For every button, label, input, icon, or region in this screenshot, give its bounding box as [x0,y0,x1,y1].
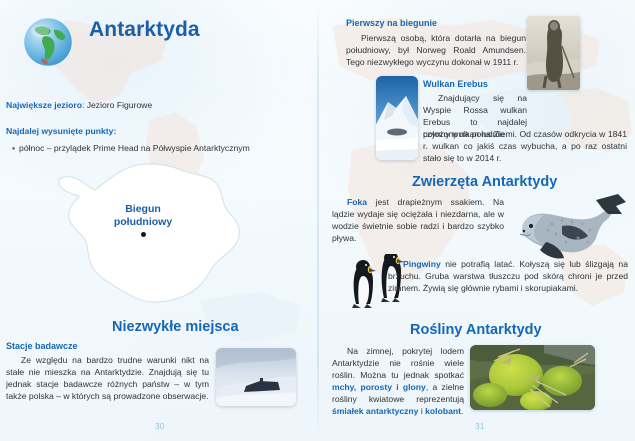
seal-illustration [504,190,628,268]
extreme-points-label: Najdalej wysunięte punkty: [6,126,116,136]
erebus-paragraph-wide: czynny wulkan na Ziemi. Od czasów odkryc… [423,128,627,164]
left-page-number: 30 [155,421,164,431]
research-stations-subheading: Stacje badawcze [6,341,78,351]
plants-text-4: . [461,406,463,416]
plants-heading: Rośliny Antarktydy [410,322,542,338]
amundsen-explorer-photo [527,16,580,90]
page-title: Antarktyda [89,18,200,42]
book-spread: Antarktyda Największe jezioro: Jezioro F… [0,0,635,441]
plants-text-1: Na zimnej, pokrytej lodem Antarktydzie n… [332,346,464,380]
plants-paragraph: Na zimnej, pokrytej lodem Antarktydzie n… [332,345,464,418]
first-at-pole-heading: Pierwszy na biegunie [346,18,437,28]
bullet-dot-icon: ▪ [12,143,15,153]
animals-heading: Zwierzęta Antarktydy [412,174,557,190]
globe-americas-icon [23,17,73,67]
extreme-point-text: północ – przylądek Prime Head na Półwysp… [19,143,250,153]
south-pole-marker [141,232,146,237]
seal-paragraph: Foka jest drapieżnym ssakiem. Na lądzie … [332,196,504,244]
penguin-keyword: Pingwiny [403,259,441,269]
research-station-photo [216,348,296,406]
plants-keyword-3: kolobant [425,406,461,416]
seal-keyword: Foka [347,197,367,207]
unusual-places-heading: Niezwykłe miejsca [112,319,239,335]
south-pole-label-line2: południowy [114,216,172,228]
left-page: Antarktyda Największe jezioro: Jezioro F… [0,0,317,441]
largest-lake-key: Największe jezioro [6,100,82,110]
south-pole-label: Biegun południowy [88,203,198,228]
largest-lake-label: Największe jezioro: Jezioro Figurowe [6,100,311,110]
plants-keyword-1: mchy, porosty i glony [332,382,426,392]
antarctic-moss-photo [470,345,595,410]
right-page-number: 31 [475,421,484,431]
plants-keyword-2: śmiałek antarktyczny [332,406,418,416]
first-at-pole-paragraph: Pierwszą osobą, która dotarła na biegun … [346,32,526,68]
research-stations-paragraph: Ze względu na bardzo trudne warunki nikt… [6,354,209,402]
erebus-heading: Wulkan Erebus [423,79,488,89]
extreme-point-north: ▪północ – przylądek Prime Head na Półwys… [12,142,312,154]
antarctica-map [55,162,270,314]
penguin-paragraph: Pingwiny nie potrafią latać. Kołyszą się… [388,258,628,294]
largest-lake-value: Jezioro Figurowe [87,100,152,110]
erebus-volcano-photo [376,76,418,160]
south-pole-label-line1: Biegun [125,203,161,215]
right-page: Pierwszy na biegunie Pierwszą osobą, któ… [318,0,635,441]
